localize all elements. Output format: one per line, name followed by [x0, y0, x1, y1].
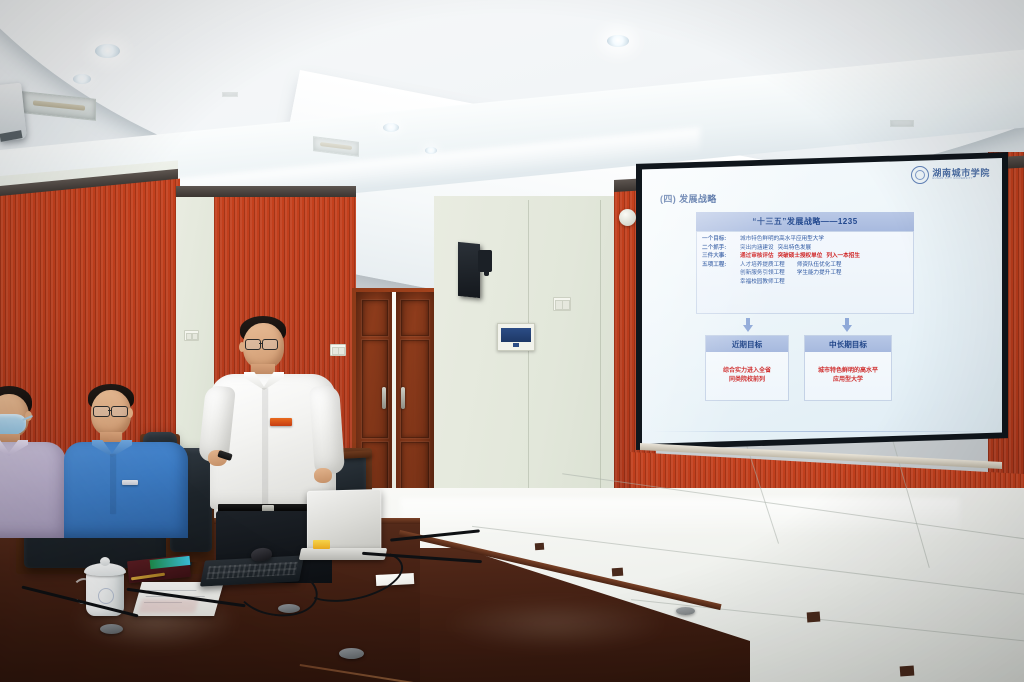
slide-row-item: 列入一本招生	[826, 253, 860, 259]
wall-trim	[176, 186, 356, 197]
door-panel-groove	[401, 300, 429, 336]
shirt-logo	[122, 480, 138, 485]
goal-box-body: 综合实力进入全省 同类院校前列	[706, 352, 788, 400]
goal-box-near-term: 近期目标 综合实力进入全省 同类院校前列	[705, 335, 789, 401]
logo-emblem-icon	[911, 166, 929, 184]
slide-row: 二个抓手: 突出内涵建设 突出特色发展	[702, 245, 908, 251]
slide-row: 三件大事: 通过审核评估 突破硕士授权单位 列入一本招生	[702, 253, 908, 259]
control-panel-display	[501, 328, 531, 342]
flow-arrow-stem	[845, 318, 849, 325]
name-badge	[270, 418, 292, 426]
university-logo: 湖南城市学院 HUNAN CITY UNIVERSITY	[911, 166, 990, 184]
eyeglasses-bridge	[108, 410, 112, 411]
slide-row: 五项工程: 人才培养提质工程 创新服务引领工程 幸福校园教师工程 师资队伍优化工…	[702, 262, 908, 286]
slide-row-item: 人才培养提质工程	[740, 262, 785, 268]
slide-row-item: 突出内涵建设	[740, 245, 774, 251]
door-panel-groove	[401, 340, 429, 438]
table-cable-grommet	[676, 607, 695, 615]
slide-row-label: 一个目标:	[702, 236, 736, 242]
speaker-bracket	[484, 258, 489, 276]
slide-row-item: 城市特色鲜明的高水平应用型大学	[740, 236, 824, 242]
flow-arrow-stem	[746, 318, 750, 325]
slide-row: 一个目标: 城市特色鲜明的高水平应用型大学	[702, 236, 908, 242]
floor-accent-tile	[612, 568, 624, 577]
downlight-icon	[425, 147, 437, 154]
slide-row-item: 通过审核评估	[740, 253, 774, 259]
door-handle-icon[interactable]	[382, 387, 386, 409]
eyeglasses-bridge	[259, 343, 263, 344]
ceiling-vent-small	[222, 92, 238, 97]
downlight-icon	[383, 123, 399, 132]
slide-row-item: 学生能力提升工程	[797, 270, 842, 276]
wall-seam	[600, 200, 601, 500]
cup-emblem-icon	[98, 588, 114, 604]
goal-box-long-term: 中长期目标 城市特色鲜明的高水平 应用型大学	[804, 335, 892, 401]
torso-shirt	[0, 442, 66, 538]
shirt-placket	[110, 454, 115, 514]
slide-row-item: 突出特色发展	[778, 245, 812, 251]
slide-title-text: “十三五”发展战略——1235	[752, 216, 857, 227]
goal-box-title: 中长期目标	[829, 339, 867, 350]
slide-row-label: 三件大事:	[702, 253, 736, 259]
goal-box-line: 城市特色鲜明的高水平	[818, 368, 878, 375]
cup-knob	[100, 557, 110, 566]
slide-footer-rule	[652, 431, 992, 433]
goal-box-title: 近期目标	[732, 339, 762, 350]
slide-row-label: 五项工程:	[702, 262, 736, 268]
downlight-icon	[73, 74, 91, 84]
goal-box-line: 综合实力进入全省	[723, 368, 771, 375]
torso-shirt	[64, 442, 188, 538]
eyeglasses	[93, 406, 110, 417]
light-switch[interactable]	[553, 297, 571, 311]
presentation-slide: 湖南城市学院 HUNAN CITY UNIVERSITY (四) 发展战略 “十…	[642, 158, 1002, 444]
goal-box-header: 近期目标	[706, 336, 788, 352]
slide-title-bar: “十三五”发展战略——1235	[696, 212, 914, 231]
slide-row-item: 幸福校园教师工程	[740, 279, 785, 285]
paper-highlight	[138, 599, 199, 613]
hand-right	[314, 468, 332, 483]
wall-control-panel[interactable]	[497, 323, 535, 351]
slide-row-item: 突破硕士授权单位	[778, 253, 823, 259]
wall-speaker	[458, 242, 480, 298]
slide-heading: (四) 发展战略	[660, 192, 717, 205]
person-attendee-blue	[78, 384, 208, 534]
goal-box-body: 城市特色鲜明的高水平 应用型大学	[805, 352, 891, 400]
floor-accent-tile	[807, 612, 821, 623]
floor-accent-tile	[535, 543, 544, 551]
goal-box-header: 中长期目标	[805, 336, 891, 352]
eyeglasses	[111, 406, 128, 417]
table-reflection	[440, 598, 670, 650]
goal-box-line: 同类院校前列	[729, 377, 765, 384]
slide-row-item: 师资队伍优化工程	[797, 262, 842, 268]
arm-right	[309, 385, 345, 475]
slide-row-label: 二个抓手:	[702, 245, 736, 251]
shirt-placket	[262, 388, 267, 506]
flow-arrow-down-icon	[842, 325, 852, 332]
logo-subtext: HUNAN CITY UNIVERSITY	[932, 178, 990, 181]
ceiling-vent-small	[890, 120, 914, 127]
downlight-icon	[95, 44, 120, 58]
flow-arrow-down-icon	[743, 325, 753, 332]
slide-body-box: 一个目标: 城市特色鲜明的高水平应用型大学 二个抓手: 突出内涵建设 突出特色发…	[696, 231, 914, 314]
downlight-icon	[607, 35, 629, 47]
laptop-sticker	[313, 540, 330, 549]
eyeglasses	[262, 339, 278, 350]
smoke-detector	[619, 209, 636, 226]
door-leaf-right[interactable]	[396, 292, 434, 507]
table-cable-grommet	[339, 648, 364, 659]
projection-screen: 湖南城市学院 HUNAN CITY UNIVERSITY (四) 发展战略 “十…	[642, 158, 1002, 444]
conference-room-photo: 湖南城市学院 HUNAN CITY UNIVERSITY (四) 发展战略 “十…	[0, 0, 1024, 682]
goal-box-line: 应用型大学	[833, 377, 863, 384]
floor-accent-tile	[900, 666, 915, 677]
door-handle-icon[interactable]	[401, 387, 405, 409]
table-cable-grommet	[100, 624, 123, 634]
eyeglasses	[245, 339, 261, 350]
slide-row-item: 创新服务引领工程	[740, 270, 785, 276]
control-panel-button[interactable]	[513, 343, 519, 347]
